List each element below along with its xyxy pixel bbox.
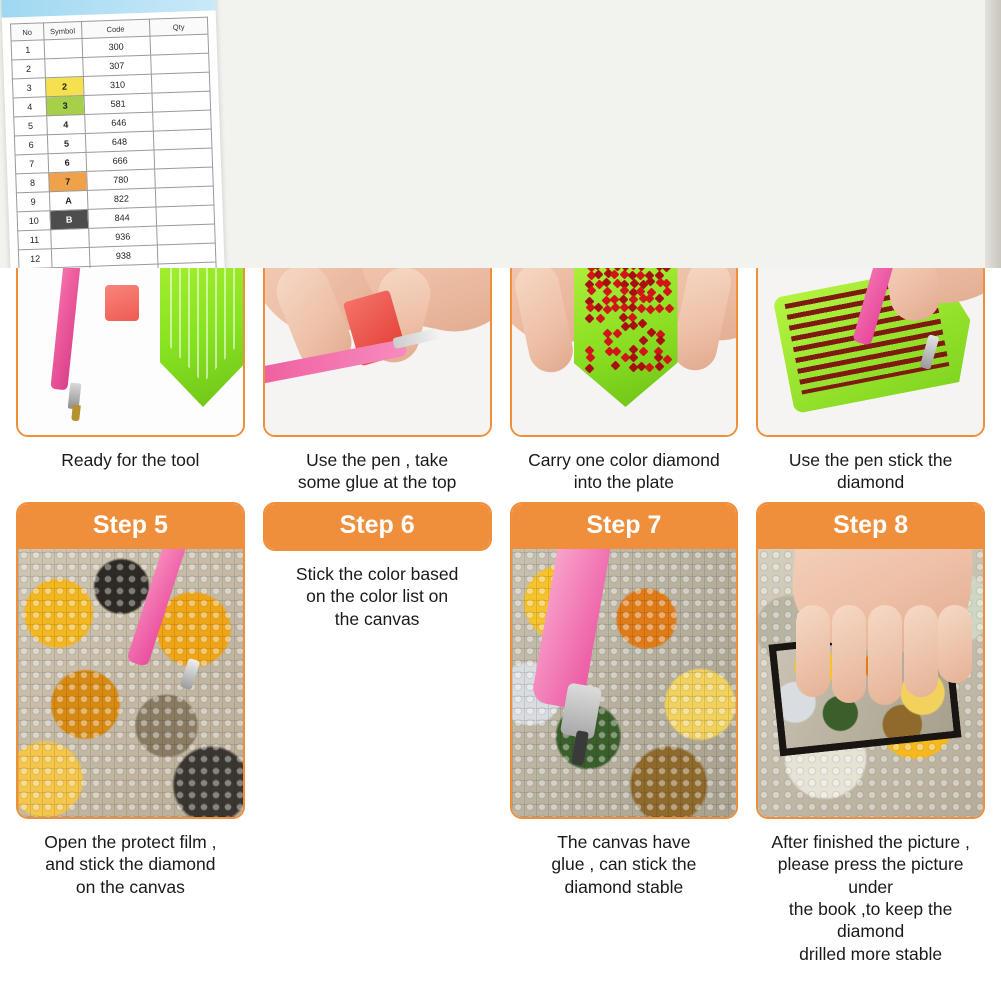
step-6-caption: Stick the color based on the color list … xyxy=(263,551,492,630)
fingers-group xyxy=(794,605,972,701)
step-8-image xyxy=(758,549,983,817)
step-7-title: Step 7 xyxy=(512,504,737,549)
finger-icon xyxy=(796,605,830,697)
step-card-8: Step 8 After finished the picture , plea… xyxy=(756,502,985,965)
step-5-caption: Open the protect film , and stick the di… xyxy=(16,819,245,898)
step-6-card: Step 6 No Symbol Code Qty xyxy=(263,502,492,551)
finger-icon xyxy=(832,605,866,703)
canvas-grid-texture xyxy=(18,549,243,817)
step-5-image xyxy=(18,549,243,817)
finger-icon xyxy=(938,605,972,683)
step-8-caption: After finished the picture , please pres… xyxy=(756,819,985,965)
step-7-caption: The canvas have glue , can stick the dia… xyxy=(510,819,739,898)
finger-icon xyxy=(868,605,902,705)
step-5-title: Step 5 xyxy=(18,504,243,549)
steps-grid: Step 1 Ready for the tool Step 2 xyxy=(0,94,1001,965)
step-6-title: Step 6 xyxy=(265,504,490,549)
pen-nib-icon xyxy=(71,405,81,422)
step-7-card: Step 7 xyxy=(510,502,739,819)
step-1-caption: Ready for the tool xyxy=(16,437,245,471)
step-3-caption: Carry one color diamond into the plate xyxy=(510,437,739,494)
step-card-7: Step 7 The canvas have glue , can stick … xyxy=(510,502,739,965)
step-card-5: Step 5 Open the protect film , and stick… xyxy=(16,502,245,965)
step-2-caption: Use the pen , take some glue at the top xyxy=(263,437,492,494)
finger-icon xyxy=(904,605,938,697)
step-7-image xyxy=(512,549,737,817)
step-card-6: Step 6 No Symbol Code Qty xyxy=(263,502,492,965)
step-4-caption: Use the pen stick the diamond xyxy=(756,437,985,494)
step-8-title: Step 8 xyxy=(758,504,983,549)
step-5-card: Step 5 xyxy=(16,502,245,819)
step-7-wrap: Step 7 xyxy=(512,504,737,817)
step-8-card: Step 8 xyxy=(756,502,985,819)
glue-wax-icon xyxy=(105,285,139,321)
